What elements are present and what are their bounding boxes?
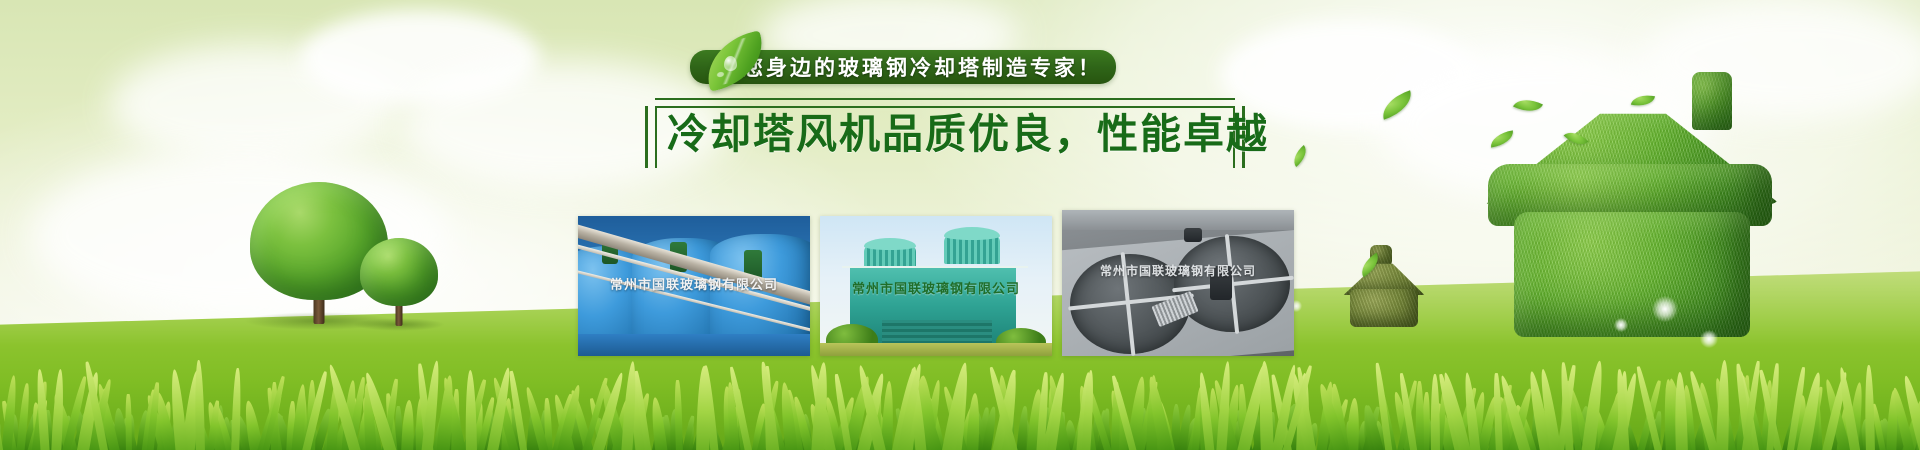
tree-small-crown	[360, 238, 438, 306]
photo2-louvers	[882, 320, 992, 346]
grass-house-chimney	[1692, 72, 1732, 130]
headline-left-rule	[645, 106, 657, 168]
grass-house-small	[1340, 245, 1428, 327]
eco-product-banner: 您身边的玻璃钢冷却塔制造专家！ 冷却塔风机品质优良，性能卓越 常州市国联玻璃钢有…	[0, 0, 1920, 450]
grass-blade	[1674, 372, 1688, 450]
photo3-horizon	[1062, 210, 1294, 230]
photo3-watermark: 常州市国联玻璃钢有限公司	[1062, 262, 1294, 279]
photo2-fan-top-2	[944, 227, 1000, 240]
leaf-7	[1288, 145, 1311, 167]
photo3-motor-2	[1184, 228, 1202, 242]
headline-block: 冷却塔风机品质优良，性能卓越	[645, 98, 1245, 172]
tree-small	[360, 238, 438, 326]
headline-text: 冷却塔风机品质优良，性能卓越	[667, 106, 1269, 162]
grass-blade	[674, 380, 683, 450]
grass-blade	[1430, 373, 1440, 450]
dewdrop-icon	[724, 56, 737, 71]
grass-blade	[1716, 360, 1730, 450]
product-photo-1[interactable]: 常州市国联玻璃钢有限公司	[578, 216, 810, 356]
grass-blade	[1346, 398, 1361, 450]
photo2-watermark: 常州市国联玻璃钢有限公司	[820, 278, 1052, 297]
sparkle-1	[1652, 296, 1678, 322]
sparkle-3	[1700, 330, 1718, 348]
grass-blade	[1864, 365, 1875, 450]
sparkle-2	[1614, 318, 1628, 332]
product-photo-3[interactable]: 常州市国联玻璃钢有限公司	[1062, 210, 1294, 356]
grass-blade	[1258, 361, 1274, 450]
grass-house-body	[1514, 212, 1750, 337]
photo1-watermark: 常州市国联玻璃钢有限公司	[578, 274, 810, 293]
photo2-fan-top-1	[864, 238, 916, 250]
grass-blade	[194, 360, 205, 450]
slogan-text: 您身边的玻璃钢冷却塔制造专家！	[742, 52, 1102, 82]
small-house-body	[1350, 289, 1418, 327]
foreground-grass	[0, 354, 1920, 450]
photo2-handrail	[842, 266, 1028, 268]
slogan-ribbon: 您身边的玻璃钢冷却塔制造专家！	[690, 50, 1116, 84]
product-photo-2[interactable]: 常州市国联玻璃钢有限公司	[820, 216, 1052, 356]
photo1-base	[578, 334, 810, 356]
grass-blade	[1415, 381, 1424, 450]
grass-blade	[401, 400, 415, 450]
grass-house	[1480, 72, 1780, 337]
grass-blade	[125, 394, 132, 450]
grass-blade	[465, 370, 477, 450]
